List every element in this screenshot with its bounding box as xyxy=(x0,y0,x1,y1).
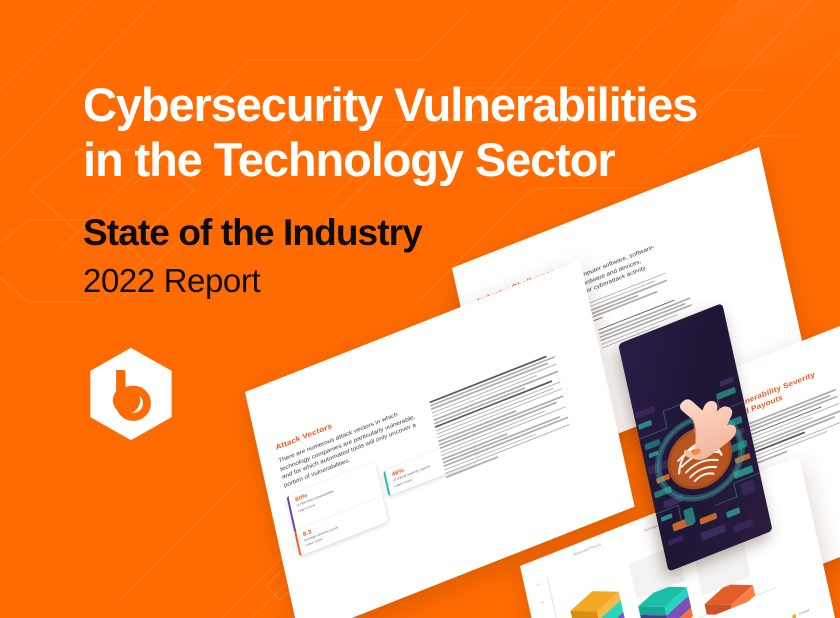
report-page-mockups: Industry Challenges The technology secto… xyxy=(0,0,840,618)
legend-color-swatch xyxy=(792,614,797,618)
report-cover: Cybersecurity Vulnerabilities in the Tec… xyxy=(0,0,840,618)
legend-label: Critical xyxy=(799,609,810,616)
bar-chart-legend: Critical High Medium Low xyxy=(792,605,827,618)
